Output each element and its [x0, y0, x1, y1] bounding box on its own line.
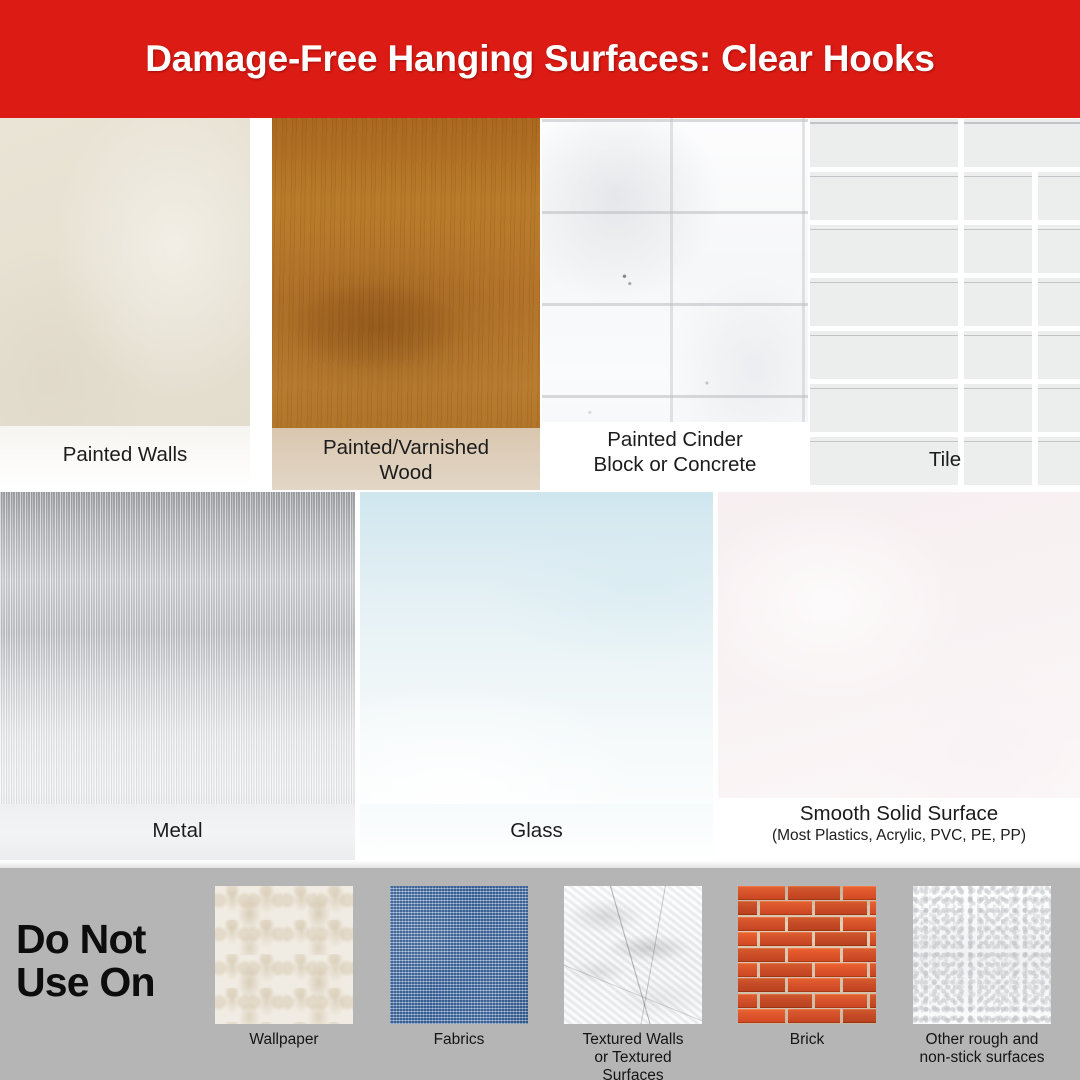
brick-unit [788, 886, 840, 900]
brick-unit [815, 963, 867, 977]
brick-unit [738, 886, 785, 900]
textured-wall-swatch [564, 886, 702, 1024]
brick-unit [760, 994, 812, 1008]
do-not-use-item-rough: Other rough and non-stick surfaces [913, 886, 1051, 1067]
brick-row [738, 886, 876, 900]
brick-unit [843, 948, 876, 962]
brick-unit [738, 917, 785, 931]
do-not-use-title-line1: Do Not [16, 918, 206, 961]
do-not-use-label-fabrics-line1: Fabrics [434, 1031, 485, 1048]
brick-unit [870, 932, 876, 946]
brick-unit [738, 932, 757, 946]
brick-row [738, 948, 876, 962]
surface-label-wood-line2: Wood [274, 461, 538, 485]
do-not-use-item-textured: Textured Walls or Textured Surfaces [564, 886, 702, 1080]
brick-unit [870, 994, 876, 1008]
brick-row [738, 1009, 876, 1023]
do-not-use-label-textured-line1: Textured Walls [582, 1031, 683, 1048]
brick-unit [843, 978, 876, 992]
brick-unit [870, 963, 876, 977]
surface-caption-cinder-block: Painted Cinder Block or Concrete [542, 422, 808, 486]
surface-caption-smooth-solid: Smooth Solid Surface (Most Plastics, Acr… [718, 798, 1080, 860]
surface-card-wood: Painted/Varnished Wood [272, 118, 540, 490]
brick-unit [788, 978, 840, 992]
rough-surface-swatch [913, 886, 1051, 1024]
do-not-use-label-wallpaper: Wallpaper [215, 1031, 353, 1049]
brick-row [738, 901, 876, 915]
brick-unit [843, 917, 876, 931]
do-not-use-label-rough-line2: non-stick surfaces [920, 1049, 1045, 1066]
page-title: Damage-Free Hanging Surfaces: Clear Hook… [145, 38, 935, 80]
brick-row [738, 932, 876, 946]
do-not-use-item-fabrics: Fabrics [390, 886, 528, 1049]
brick-unit [738, 994, 757, 1008]
brick-unit [788, 948, 840, 962]
brick-row [738, 994, 876, 1008]
brick-unit [870, 901, 876, 915]
do-not-use-label-brick: Brick [738, 1031, 876, 1049]
brick-unit [738, 978, 785, 992]
surface-card-painted-walls: Painted Walls [0, 118, 250, 486]
brick-unit [760, 901, 812, 915]
surface-card-metal: Metal [0, 492, 355, 860]
brick-unit [738, 901, 757, 915]
brick-unit [760, 963, 812, 977]
brick-unit [815, 901, 867, 915]
do-not-use-label-wallpaper-line1: Wallpaper [249, 1031, 318, 1048]
brick-unit [815, 932, 867, 946]
do-not-use-label-rough: Other rough and non-stick surfaces [913, 1031, 1051, 1067]
brick-row [738, 917, 876, 931]
do-not-use-label-textured-line2: or Textured Surfaces [594, 1049, 671, 1080]
header-bar: Damage-Free Hanging Surfaces: Clear Hook… [0, 0, 1080, 118]
surface-label-cinder-block-line2: Block or Concrete [544, 453, 806, 477]
surface-label-metal: Metal [152, 819, 202, 843]
surface-caption-glass: Glass [360, 804, 713, 860]
do-not-use-item-brick: Brick [738, 886, 876, 1049]
brick-row [738, 978, 876, 992]
surface-label-cinder-block: Painted Cinder [607, 428, 743, 451]
brick-unit [815, 994, 867, 1008]
surface-card-glass: Glass [360, 492, 713, 860]
surface-caption-metal: Metal [0, 804, 355, 860]
surface-label-smooth-solid: Smooth Solid Surface [800, 802, 998, 825]
brick-unit [738, 963, 757, 977]
surface-caption-painted-walls: Painted Walls [0, 426, 250, 486]
brick-row [738, 963, 876, 977]
brick-swatch [738, 886, 876, 1024]
do-not-use-label-textured: Textured Walls or Textured Surfaces [564, 1031, 702, 1080]
brick-unit [788, 1009, 840, 1023]
surface-caption-tile: Tile [810, 432, 1080, 490]
surface-label-glass: Glass [510, 819, 562, 843]
do-not-use-label-fabrics: Fabrics [390, 1031, 528, 1049]
brick-unit [760, 932, 812, 946]
do-not-use-title-line2: Use On [16, 961, 206, 1004]
brick-unit [843, 1009, 876, 1023]
surface-card-cinder-block: Painted Cinder Block or Concrete [542, 118, 808, 486]
do-not-use-item-wallpaper: Wallpaper [215, 886, 353, 1049]
row-divider [0, 860, 1080, 868]
infographic-root: Damage-Free Hanging Surfaces: Clear Hook… [0, 0, 1080, 1080]
denim-fabric-swatch [390, 886, 528, 1024]
surface-label-wood: Painted/Varnished [323, 436, 489, 459]
brick-pattern [738, 886, 876, 1024]
surface-label-painted-walls: Painted Walls [63, 443, 188, 467]
brick-unit [788, 917, 840, 931]
surface-label-smooth-solid-line2: (Most Plastics, Acrylic, PVC, PE, PP) [720, 827, 1078, 845]
do-not-use-label-rough-line1: Other rough and [926, 1031, 1039, 1048]
surface-label-tile: Tile [929, 448, 961, 472]
do-not-use-title: Do Not Use On [16, 918, 206, 1005]
surface-card-tile: Tile [810, 118, 1080, 490]
brick-unit [843, 886, 876, 900]
surface-caption-wood: Painted/Varnished Wood [272, 428, 540, 490]
do-not-use-label-brick-line1: Brick [790, 1031, 824, 1048]
brick-unit [738, 1009, 785, 1023]
wallpaper-damask-swatch [215, 886, 353, 1024]
surface-card-smooth-solid: Smooth Solid Surface (Most Plastics, Acr… [718, 492, 1080, 860]
brick-unit [738, 948, 785, 962]
